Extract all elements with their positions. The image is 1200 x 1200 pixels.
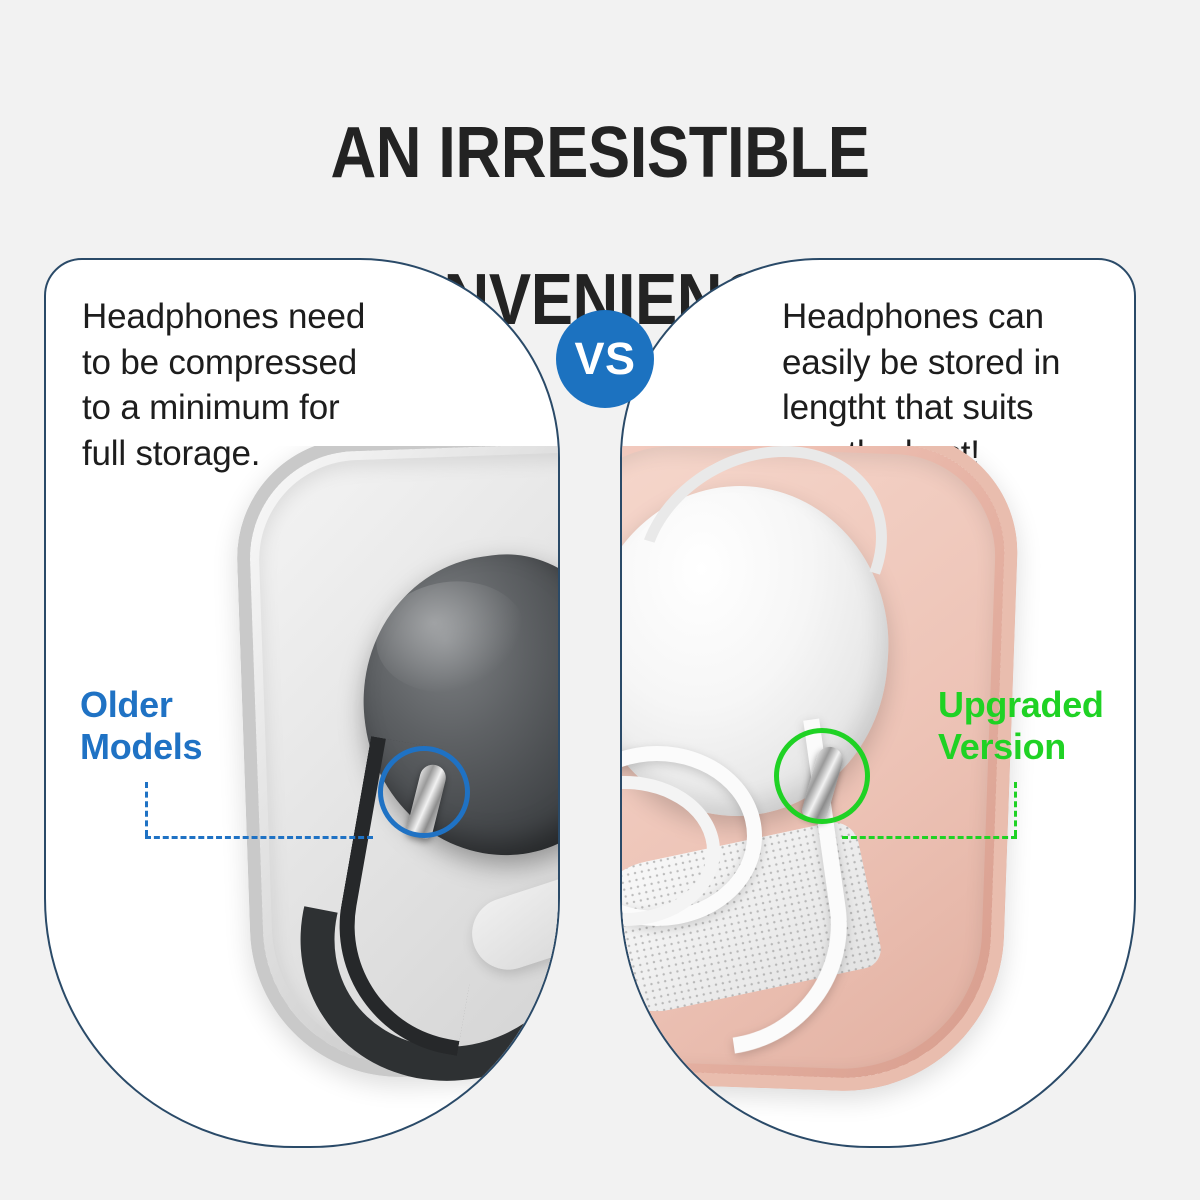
connector-line-upgraded-vertical <box>1014 782 1017 836</box>
product-photo-older <box>46 446 558 1146</box>
callout-older-models: Older Models <box>80 684 202 768</box>
connector-line-upgraded-horizontal <box>842 836 1017 839</box>
highlight-circle-upgraded <box>774 728 870 824</box>
infographic-root: AN IRRESISTIBLE CONVENIENCE!! Headphones… <box>0 0 1200 1200</box>
headline-line-1: AN IRRESISTIBLE <box>72 117 1128 190</box>
highlight-circle-older <box>378 746 470 838</box>
connector-line-older-vertical <box>145 782 148 836</box>
product-photo-upgraded <box>622 446 1134 1146</box>
connector-line-older-horizontal <box>145 836 373 839</box>
callout-upgraded-version: Upgraded Version <box>938 684 1104 768</box>
vs-badge: VS <box>556 310 654 408</box>
